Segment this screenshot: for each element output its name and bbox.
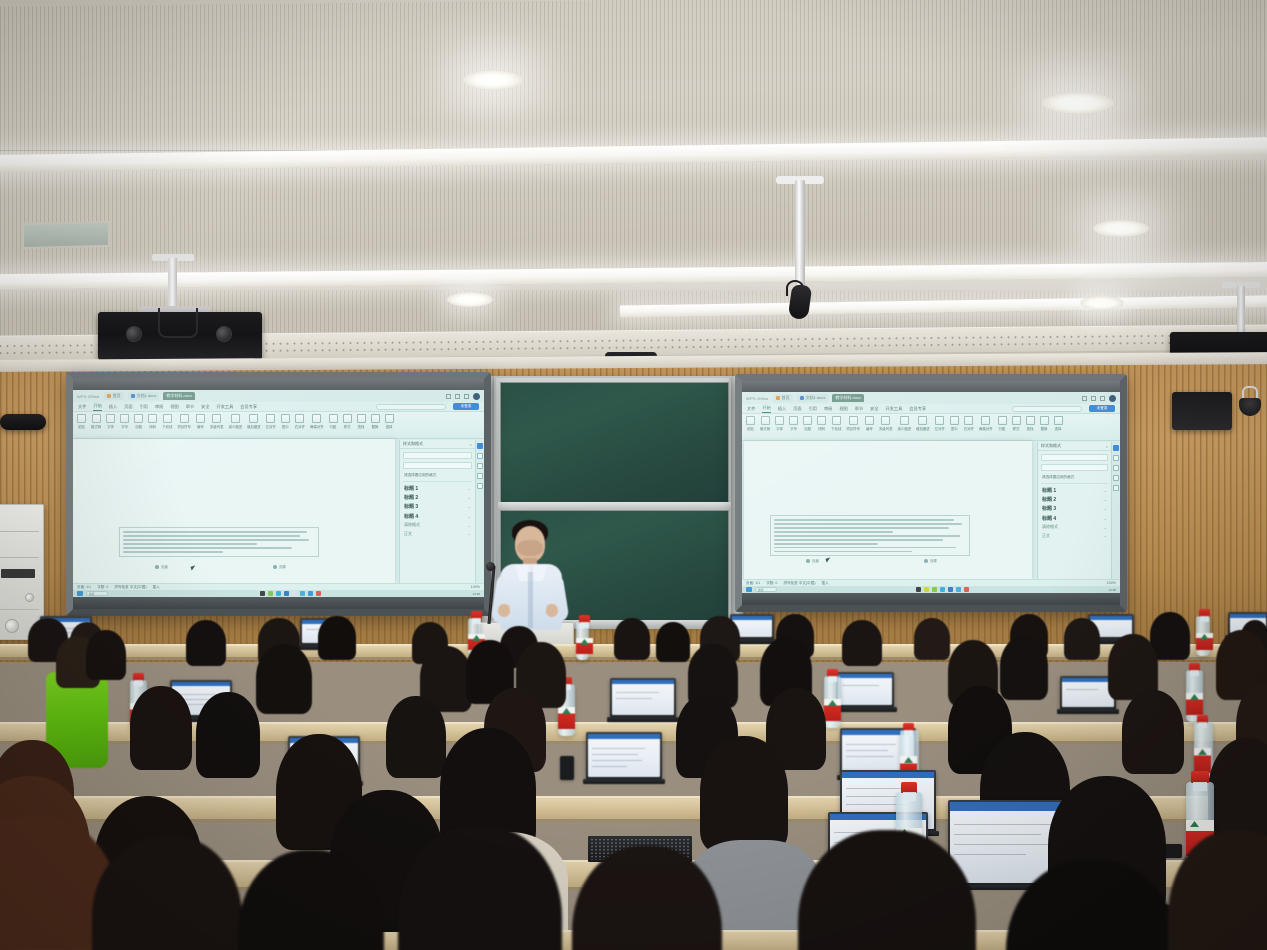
select-icon[interactable]: [385, 414, 394, 423]
chevron-down-icon[interactable]: ⌄: [468, 495, 471, 500]
text-cursor-icon: [826, 557, 832, 562]
multilevel-list-icon[interactable]: [881, 416, 890, 425]
ribbon-group[interactable]: 查找: [357, 414, 366, 429]
styles-panel-title: 样式和格式: [1041, 443, 1061, 449]
sidebar-tool-icon[interactable]: [477, 473, 483, 479]
select-icon[interactable]: [1054, 416, 1063, 425]
ribbon-group[interactable]: 左对齐: [266, 414, 276, 429]
wechat-icon[interactable]: [932, 587, 937, 592]
ribbon-group[interactable]: 多级列表: [210, 414, 224, 429]
ribbon-group[interactable]: 右对齐: [295, 414, 305, 429]
status-words: 字数: 0: [97, 585, 108, 590]
taskbar-search-input[interactable]: 搜索: [755, 587, 777, 592]
screen-left-display[interactable]: WPS Office 首页 文档1.docx 教学材料.docx: [73, 390, 484, 597]
ribbon-group[interactable]: 样式: [1012, 416, 1021, 431]
ribbon-group[interactable]: 字号: [789, 416, 798, 431]
wps-logo-icon: [776, 396, 780, 400]
ribbon-group[interactable]: 减少缩进: [228, 414, 242, 429]
ribbon-group[interactable]: 倾斜: [817, 416, 826, 431]
ribbon-group[interactable]: 居中: [281, 414, 290, 429]
taskbar-app-icons[interactable]: [916, 587, 969, 592]
water-bottle: [576, 622, 589, 660]
justify-icon[interactable]: [312, 414, 321, 423]
taskbar-clock[interactable]: 14:28: [472, 592, 480, 596]
screen-right-display[interactable]: WPS Office 首页 文档1.docx 教学材料.docx: [742, 392, 1120, 593]
water-bottle: [1196, 616, 1210, 656]
close-icon[interactable]: [464, 394, 469, 399]
menu-item-insert[interactable]: 插入: [778, 406, 786, 412]
window-controls[interactable]: [1082, 395, 1116, 402]
taskbar-search-input[interactable]: 搜索: [86, 591, 108, 596]
browser-icon[interactable]: [276, 591, 281, 596]
student-head: [914, 618, 950, 660]
underline-icon[interactable]: [832, 416, 841, 425]
close-icon[interactable]: ×: [470, 442, 472, 447]
menu-item-review[interactable]: 审阅: [824, 406, 832, 412]
menu-item-reference[interactable]: 引用: [140, 404, 148, 410]
maximize-icon[interactable]: [1091, 396, 1096, 401]
student-head-foreground: [1168, 830, 1267, 950]
styles-panel-subtitle: 请选择要应用的格式: [400, 472, 475, 479]
ribbon-group[interactable]: 两端对齐: [310, 414, 324, 429]
sidebar-tool-icon[interactable]: [1113, 485, 1119, 491]
doc-icon: [800, 396, 804, 400]
statusbar: 页面: 1/1 字数: 0 拼写检查 中文(中国) 插入 100%: [742, 579, 1120, 586]
align-left-icon[interactable]: [266, 414, 275, 423]
audience-area: [0, 600, 1267, 950]
folder-icon[interactable]: [284, 591, 289, 596]
paste-icon[interactable]: [746, 416, 755, 425]
ribbon-group[interactable]: 右对齐: [964, 416, 974, 431]
bullet-list-icon[interactable]: [849, 416, 858, 425]
student-head: [614, 618, 650, 660]
tab-document-active[interactable]: 教学材料.docx: [832, 394, 864, 402]
downlight-icon: [1093, 220, 1149, 237]
smartboard-left[interactable]: WPS Office 首页 文档1.docx 教学材料.docx: [66, 372, 491, 616]
menu-item-view[interactable]: 视图: [170, 404, 178, 410]
menu-item-page[interactable]: 页面: [793, 406, 801, 412]
microphone-ceiling-pole: [795, 180, 805, 288]
close-icon[interactable]: ×: [1106, 444, 1108, 449]
document-paragraph[interactable]: [119, 527, 319, 557]
windows-taskbar[interactable]: 搜索 14:28: [73, 590, 484, 597]
sidebar-tool-icon[interactable]: [1113, 465, 1119, 471]
ribbon-group[interactable]: 替换: [1040, 416, 1049, 431]
ribbon-group[interactable]: 加粗: [803, 416, 812, 431]
student-head: [256, 644, 312, 714]
ribbon-group[interactable]: 格式刷: [91, 414, 101, 429]
ribbon-group[interactable]: 样式: [343, 414, 352, 429]
bullet-list-icon[interactable]: [180, 414, 189, 423]
laptop[interactable]: [610, 678, 676, 718]
style-item-heading-4[interactable]: 标题 4 ⌄: [1038, 514, 1111, 523]
ribbon-group[interactable]: 查找: [1026, 416, 1035, 431]
underline-icon[interactable]: [163, 414, 172, 423]
decrease-indent-icon[interactable]: [900, 416, 909, 425]
maximize-icon[interactable]: [455, 394, 460, 399]
status-zoom[interactable]: 100%: [471, 585, 480, 589]
files-icon[interactable]: [916, 587, 921, 592]
ribbon-group[interactable]: 选择: [1054, 416, 1063, 431]
styles-filter-input[interactable]: [403, 452, 472, 459]
styles-panel-title: 样式和格式: [403, 441, 423, 447]
header-marker: 页眉: [806, 558, 819, 563]
login-button[interactable]: 未登录: [1089, 405, 1115, 412]
avatar[interactable]: [473, 393, 480, 400]
wechat-icon[interactable]: [268, 591, 273, 596]
styles-current-input[interactable]: [403, 462, 472, 469]
projector-left: [98, 312, 262, 360]
footer-marker: 页脚: [273, 564, 286, 569]
style-item-heading-1[interactable]: 标题 1 ⌄: [1038, 486, 1111, 495]
chevron-down-icon[interactable]: ⌄: [468, 523, 471, 528]
font-size-icon[interactable]: [789, 416, 798, 425]
find-icon[interactable]: [357, 414, 366, 423]
menubar[interactable]: 文件 开始 插入 页面 引用 审阅 视图 章节 安全 开发工具 会员专享 未登录: [742, 404, 1120, 414]
downlight-icon: [447, 292, 493, 307]
menu-item-insert[interactable]: 插入: [109, 404, 117, 410]
sidebar-tool-icon[interactable]: [477, 443, 483, 449]
sidebar-tool-icon[interactable]: [1113, 445, 1119, 451]
chevron-down-icon[interactable]: ⌄: [468, 504, 471, 509]
ribbon-group[interactable]: 左对齐: [935, 416, 945, 431]
footer-marker: 页脚: [924, 558, 937, 563]
menu-item-section[interactable]: 章节: [855, 406, 863, 412]
status-language: 拼写检查 中文(中国): [783, 581, 815, 586]
student-head: [1122, 690, 1184, 774]
tab-document-active[interactable]: 教学材料.docx: [163, 392, 195, 400]
ribbon-group[interactable]: 字体: [106, 414, 115, 429]
font-icon[interactable]: [106, 414, 115, 423]
menu-item-file[interactable]: 文件: [78, 404, 86, 410]
taskbar-clock[interactable]: 14:28: [1108, 588, 1116, 592]
app-icon[interactable]: [964, 587, 969, 592]
ribbon-group[interactable]: 字体: [775, 416, 784, 431]
styles-panel[interactable]: 样式和格式 × 请选择要应用的格式 标题 1 ⌄ 标题 2 ⌄ 标题 3 ⌄: [1037, 442, 1111, 579]
lecture-hall-photo: WPS Office 首页 文档1.docx 教学材料.docx: [0, 0, 1267, 950]
find-icon[interactable]: [1026, 416, 1035, 425]
menu-item-reference[interactable]: 引用: [809, 406, 817, 412]
downlight-icon: [1042, 92, 1114, 114]
windows-taskbar[interactable]: 搜索 14:28: [742, 586, 1120, 593]
header-marker: 页眉: [155, 564, 168, 569]
styles-icon[interactable]: [343, 414, 352, 423]
student-head: [700, 736, 788, 852]
mail-icon[interactable]: [292, 591, 297, 596]
student-head: [130, 686, 192, 770]
ribbon-group[interactable]: 选择: [385, 414, 394, 429]
avatar[interactable]: [1109, 395, 1116, 402]
menu-item-devtools[interactable]: 开发工具: [217, 404, 234, 410]
student-head: [196, 692, 260, 778]
minimize-icon[interactable]: [446, 394, 451, 399]
bold-icon[interactable]: [803, 416, 812, 425]
app-titlebar: WPS Office 首页 文档1.docx 教学材料.docx: [73, 390, 484, 402]
numbered-list-icon[interactable]: [196, 414, 205, 423]
status-page: 页面: 1/1: [77, 585, 91, 590]
style-item-body-text[interactable]: 正文 ⌄: [400, 529, 475, 537]
blackboard-panel-upper: [500, 382, 729, 504]
status-mode: 插入: [822, 581, 829, 586]
line-spacing-icon[interactable]: [329, 414, 338, 423]
ribbon-group[interactable]: 编号: [196, 414, 205, 429]
start-icon[interactable]: [746, 587, 752, 592]
projector-lens-icon: [216, 326, 232, 342]
replace-icon[interactable]: [371, 414, 380, 423]
notes-icon[interactable]: [924, 587, 929, 592]
status-words: 字数: 0: [766, 581, 777, 586]
italic-icon[interactable]: [148, 414, 157, 423]
files-icon[interactable]: [260, 591, 265, 596]
status-language: 拼写检查 中文(中国): [114, 585, 146, 590]
status-mode: 插入: [153, 585, 160, 590]
browser-icon[interactable]: [940, 587, 945, 592]
format-painter-icon[interactable]: [761, 416, 770, 425]
close-icon[interactable]: [1100, 396, 1105, 401]
chevron-down-icon[interactable]: ⌄: [468, 514, 471, 519]
downlight-icon: [463, 70, 523, 90]
increase-indent-icon[interactable]: [249, 414, 258, 423]
format-painter-icon[interactable]: [92, 414, 101, 423]
ribbon-group[interactable]: 行距: [998, 416, 1007, 431]
taskbar-app-icons[interactable]: [260, 591, 321, 596]
chevron-down-icon[interactable]: ⌄: [1104, 525, 1107, 530]
right-sidebar-rail[interactable]: [1111, 442, 1120, 579]
align-right-icon[interactable]: [295, 414, 304, 423]
app-icon[interactable]: [316, 591, 321, 596]
multilevel-list-icon[interactable]: [212, 414, 221, 423]
chevron-down-icon[interactable]: ⌄: [1104, 516, 1107, 521]
menu-item-security[interactable]: 安全: [870, 406, 878, 412]
ribbon-group[interactable]: 下划线: [831, 416, 841, 431]
ribbon-group[interactable]: 减少缩进: [897, 416, 911, 431]
menu-item-review[interactable]: 审阅: [155, 404, 163, 410]
ribbon-group[interactable]: 多级列表: [879, 416, 893, 431]
document-page[interactable]: 页眉 页脚: [73, 439, 395, 583]
app-name-label: WPS Office: [746, 396, 769, 401]
menu-item-section[interactable]: 章节: [186, 404, 194, 410]
ribbon-toolbar[interactable]: 粘贴 格式刷 字体 字号 加粗 倾斜 下划线 项目符号 编号 多级列表 减少缩进…: [73, 412, 484, 439]
menu-item-view[interactable]: 视图: [839, 406, 847, 412]
student-head: [186, 620, 226, 666]
style-item-heading-4[interactable]: 标题 4 ⌄: [400, 512, 475, 521]
chevron-down-icon[interactable]: ⌄: [468, 486, 471, 491]
air-vent-icon: [22, 221, 110, 249]
media-icon[interactable]: [308, 591, 313, 596]
font-size-icon[interactable]: [120, 414, 129, 423]
minimize-icon[interactable]: [1082, 396, 1087, 401]
align-left-icon[interactable]: [935, 416, 944, 425]
tab-document-1[interactable]: 文档1.docx: [128, 392, 160, 400]
styles-panel-subtitle: 请选择要应用的格式: [1038, 474, 1111, 481]
menu-item-member[interactable]: 会员专享: [240, 404, 257, 410]
tab-home[interactable]: 首页: [773, 394, 793, 402]
tab-home[interactable]: 首页: [104, 392, 124, 400]
status-page: 页面: 1/1: [746, 581, 760, 586]
student-head: [656, 622, 690, 662]
styles-panel[interactable]: 样式和格式 × 请选择要应用的格式 标题 1 ⌄ 标题 2 ⌄ 标题 3 ⌄: [399, 440, 475, 583]
chevron-down-icon[interactable]: ⌄: [1104, 488, 1107, 493]
ribbon-group[interactable]: 项目符号: [177, 414, 191, 429]
water-bottle: [824, 676, 841, 728]
font-icon[interactable]: [775, 416, 784, 425]
style-item-clear-format[interactable]: 清除格式 ⌄: [1038, 523, 1111, 531]
line-spacing-icon[interactable]: [998, 416, 1007, 425]
folder-icon[interactable]: [948, 587, 953, 592]
style-item-clear-format[interactable]: 清除格式 ⌄: [400, 521, 475, 529]
laptop[interactable]: [586, 732, 662, 780]
microphone-head-icon: [486, 562, 495, 571]
styles-panel-header: 样式和格式 ×: [400, 440, 475, 449]
sidebar-tool-icon[interactable]: [1113, 475, 1119, 481]
student-head: [842, 620, 882, 666]
document-paragraph[interactable]: [770, 515, 970, 556]
ceiling-tile-panel: [0, 0, 1267, 155]
start-icon[interactable]: [77, 591, 83, 596]
numbered-list-icon[interactable]: [865, 416, 874, 425]
menu-item-home[interactable]: 开始: [762, 405, 770, 413]
search-input[interactable]: [1012, 406, 1082, 412]
wall-speaker-right: [1172, 392, 1232, 430]
wps-logo-icon: [107, 394, 111, 398]
app-titlebar: WPS Office 首页 文档1.docx 教学材料.docx: [742, 392, 1120, 404]
ribbon-group[interactable]: 增加缩进: [247, 414, 261, 429]
style-item-heading-2[interactable]: 标题 2 ⌄: [400, 493, 475, 502]
statusbar: 页面: 1/1 字数: 0 拼写检查 中文(中国) 插入 100%: [73, 583, 484, 590]
chevron-down-icon[interactable]: ⌄: [1104, 533, 1107, 538]
styles-icon[interactable]: [1012, 416, 1021, 425]
italic-icon[interactable]: [817, 416, 826, 425]
ribbon-group[interactable]: 粘贴: [77, 414, 86, 429]
student-head: [1000, 636, 1048, 700]
sidebar-tool-icon[interactable]: [477, 453, 483, 459]
app-name-label: WPS Office: [77, 394, 100, 399]
ribbon-group[interactable]: 行距: [329, 414, 338, 429]
bold-icon[interactable]: [134, 414, 143, 423]
style-item-body-text[interactable]: 正文 ⌄: [1038, 531, 1111, 539]
decrease-indent-icon[interactable]: [231, 414, 240, 423]
laptop[interactable]: [836, 672, 894, 708]
align-center-icon[interactable]: [281, 414, 290, 423]
ribbon-group[interactable]: 下划线: [162, 414, 172, 429]
student-head: [386, 696, 446, 778]
ribbon-group[interactable]: 两端对齐: [979, 416, 993, 431]
student-head: [318, 616, 356, 660]
smartphone[interactable]: [560, 756, 574, 780]
style-item-heading-2[interactable]: 标题 2 ⌄: [1038, 495, 1111, 504]
menu-item-home[interactable]: 开始: [93, 403, 101, 411]
replace-icon[interactable]: [1040, 416, 1049, 425]
window-controls[interactable]: [446, 393, 480, 400]
ribbon-group[interactable]: 替换: [371, 414, 380, 429]
align-center-icon[interactable]: [950, 416, 959, 425]
doc-icon: [131, 394, 135, 398]
camera-bracket: [1242, 386, 1258, 398]
chevron-down-icon[interactable]: ⌄: [1104, 497, 1107, 502]
search-input[interactable]: [376, 404, 446, 410]
sidebar-tool-icon[interactable]: [477, 463, 483, 469]
smartboard-bezel-top: [742, 381, 1120, 392]
ribbon-group[interactable]: 字号: [120, 414, 129, 429]
text-cursor-icon: [191, 565, 197, 570]
menu-item-file[interactable]: 文件: [747, 406, 755, 412]
smartboard-bezel-top: [73, 379, 484, 390]
smartboard-right[interactable]: WPS Office 首页 文档1.docx 教学材料.docx: [735, 374, 1127, 612]
menubar[interactable]: 文件 开始 插入 页面 引用 审阅 视图 章节 安全 开发工具 会员专享 未登录: [73, 402, 484, 412]
paste-icon[interactable]: [77, 414, 86, 423]
settings-icon[interactable]: [956, 587, 961, 592]
menu-item-devtools[interactable]: 开发工具: [886, 406, 903, 412]
student-head: [1064, 618, 1100, 660]
projector-cable: [158, 308, 198, 338]
styles-current-input[interactable]: [1041, 464, 1108, 471]
ribbon-group[interactable]: 粘贴: [746, 416, 755, 431]
increase-indent-icon[interactable]: [918, 416, 927, 425]
chevron-down-icon[interactable]: ⌄: [468, 531, 471, 536]
right-sidebar-rail[interactable]: [475, 440, 484, 583]
settings-icon[interactable]: [300, 591, 305, 596]
projector-mount-pole: [1237, 286, 1245, 334]
tab-document-1[interactable]: 文档1.docx: [797, 394, 829, 402]
styles-filter-input[interactable]: [1041, 454, 1108, 461]
document-page[interactable]: 页眉 页脚: [744, 441, 1032, 579]
wall-speaker-left: [0, 414, 46, 430]
login-button[interactable]: 未登录: [453, 403, 479, 410]
sidebar-tool-icon[interactable]: [1113, 455, 1119, 461]
projector-lens-icon: [126, 326, 142, 342]
menu-item-page[interactable]: 页面: [124, 404, 132, 410]
style-item-heading-1[interactable]: 标题 1 ⌄: [400, 484, 475, 493]
style-item-heading-3[interactable]: 标题 3 ⌄: [1038, 504, 1111, 513]
ribbon-group[interactable]: 项目符号: [846, 416, 860, 431]
downlight-icon: [1080, 296, 1124, 310]
align-right-icon[interactable]: [964, 416, 973, 425]
status-zoom[interactable]: 100%: [1107, 581, 1116, 585]
ribbon-group[interactable]: 加粗: [134, 414, 143, 429]
justify-icon[interactable]: [981, 416, 990, 425]
chevron-down-icon[interactable]: ⌄: [1104, 506, 1107, 511]
presenter-face: [517, 540, 543, 556]
menu-item-security[interactable]: 安全: [201, 404, 209, 410]
ribbon-group[interactable]: 倾斜: [148, 414, 157, 429]
ribbon-toolbar[interactable]: 粘贴 格式刷 字体 字号 加粗 倾斜 下划线 项目符号 编号 多级列表 减少缩进…: [742, 414, 1120, 441]
sidebar-tool-icon[interactable]: [477, 483, 483, 489]
menu-item-member[interactable]: 会员专享: [909, 406, 926, 412]
student-head: [86, 630, 126, 680]
ribbon-group[interactable]: 增加缩进: [916, 416, 930, 431]
ribbon-group[interactable]: 居中: [950, 416, 959, 431]
ribbon-group[interactable]: 格式刷: [760, 416, 770, 431]
ribbon-group[interactable]: 编号: [865, 416, 874, 431]
style-item-heading-3[interactable]: 标题 3 ⌄: [400, 502, 475, 511]
styles-panel-header: 样式和格式 ×: [1038, 442, 1111, 451]
